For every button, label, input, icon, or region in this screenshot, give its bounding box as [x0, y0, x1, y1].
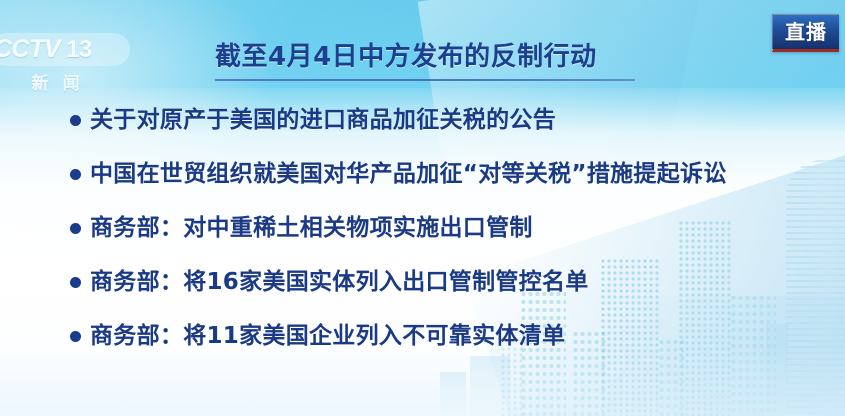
live-badge-label: 直播 — [785, 22, 827, 42]
headline-block: 截至4月4日中方发布的反制行动 — [215, 40, 645, 81]
bullet-dot-icon — [70, 277, 81, 288]
headline-underline — [215, 79, 635, 81]
live-badge: 直播 — [772, 14, 839, 52]
broadcast-lower-third-graphic: CCTV13 新闻 直播 截至4月4日中方发布的反制行动 关于对原产于美国的进口… — [0, 0, 845, 416]
list-item-label: 中国在世贸组织就美国对华产品加征“对等关税”措施提起诉讼 — [90, 158, 727, 190]
bullet-dot-icon — [70, 169, 81, 180]
list-item-label: 商务部：对中重稀土相关物项实施出口管制 — [90, 212, 533, 244]
list-item-label: 商务部：将11家美国企业列入不可靠实体清单 — [90, 320, 565, 352]
action-list: 关于对原产于美国的进口商品加征关税的公告 中国在世贸组织就美国对华产品加征“对等… — [70, 104, 830, 374]
page-title: 截至4月4日中方发布的反制行动 — [215, 40, 645, 74]
list-item: 中国在世贸组织就美国对华产品加征“对等关税”措施提起诉讼 — [70, 158, 830, 212]
list-item-label: 商务部：将16家美国实体列入出口管制管控名单 — [90, 266, 589, 298]
list-item: 关于对原产于美国的进口商品加征关税的公告 — [70, 104, 830, 158]
bullet-dot-icon — [70, 223, 81, 234]
bullet-dot-icon — [70, 115, 81, 126]
list-item: 商务部：将11家美国企业列入不可靠实体清单 — [70, 320, 830, 374]
list-item-label: 关于对原产于美国的进口商品加征关税的公告 — [90, 104, 556, 136]
list-item: 商务部：对中重稀土相关物项实施出口管制 — [70, 212, 830, 266]
bullet-dot-icon — [70, 331, 81, 342]
list-item: 商务部：将16家美国实体列入出口管制管控名单 — [70, 266, 830, 320]
